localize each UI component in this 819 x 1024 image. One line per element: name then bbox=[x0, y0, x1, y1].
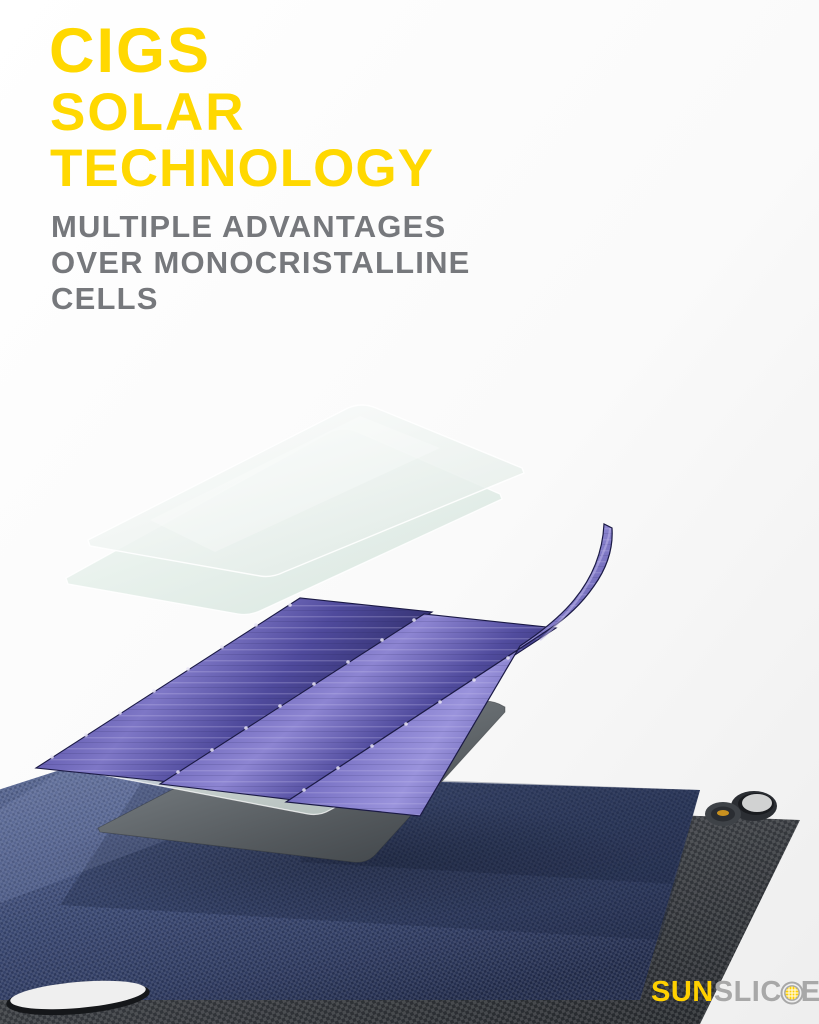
title-block: CIGS SOLAR TECHNOLOGY MULTIPLE ADVANTAGE… bbox=[47, 22, 587, 317]
page-subtitle-line-3: CELLS bbox=[51, 281, 587, 317]
page-title-line-1: CIGS bbox=[49, 22, 587, 82]
logo-word-slic: SLIC bbox=[714, 976, 782, 1009]
page-subtitle-line-1: MULTIPLE ADVANTAGES bbox=[51, 209, 587, 245]
logo-word-sun: SUN bbox=[651, 976, 714, 1009]
page-subtitle-line-2: OVER MONOCRISTALLINE bbox=[51, 245, 587, 281]
sunslice-logo[interactable]: SUN SLIC E bbox=[651, 975, 819, 1009]
solar-grid-circle-icon bbox=[780, 981, 804, 1005]
page-subtitle: MULTIPLE ADVANTAGES OVER MONOCRISTALLINE… bbox=[51, 209, 587, 318]
poster-root: CIGS SOLAR TECHNOLOGY MULTIPLE ADVANTAGE… bbox=[0, 0, 819, 1024]
page-title-line-2: SOLAR bbox=[50, 88, 587, 138]
page-title-line-3: TECHNOLOGY bbox=[50, 144, 587, 194]
